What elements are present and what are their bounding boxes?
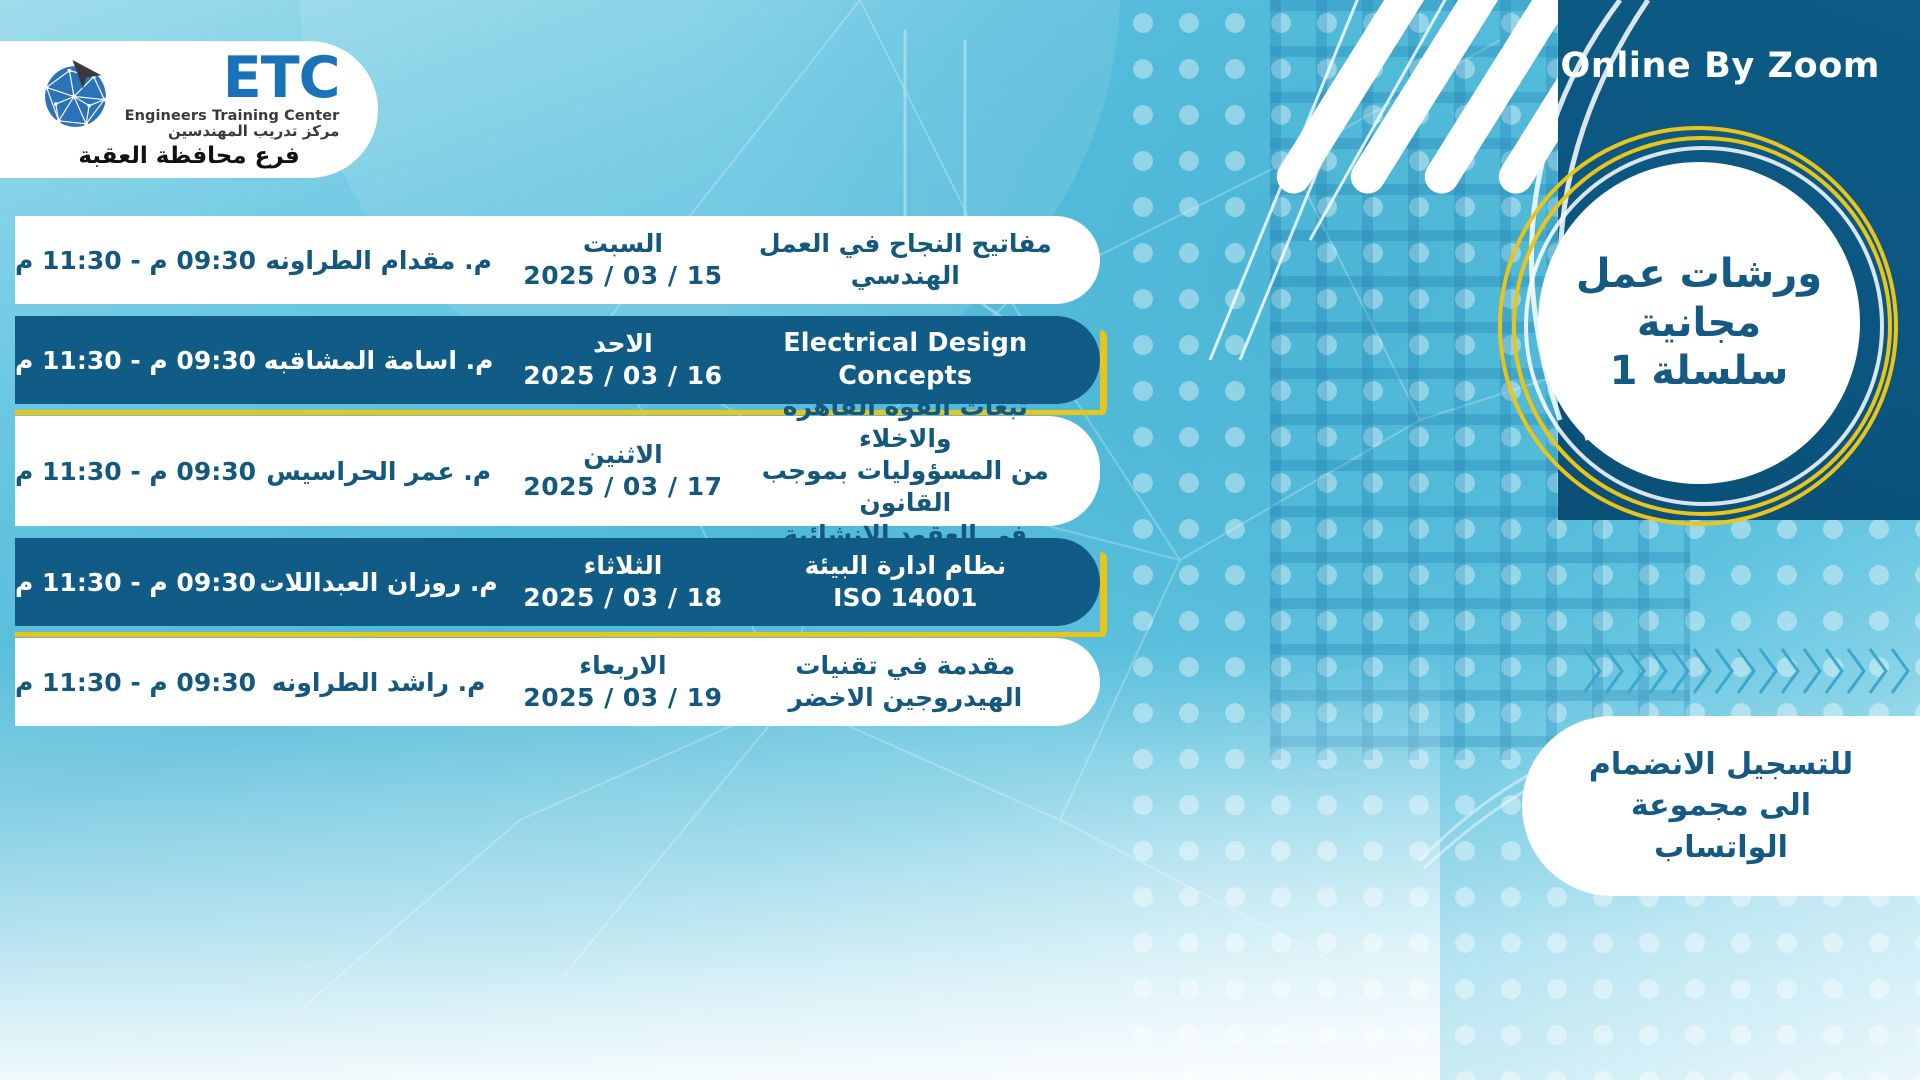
workshop-date-cell: الاربعاء 2025 / 03 / 19 xyxy=(501,650,744,715)
workshop-time-cell: 09:30 م - 11:30 م xyxy=(15,346,256,375)
workshop-date: 2025 / 03 / 15 xyxy=(501,260,744,293)
workshop-title-line: Concepts xyxy=(838,361,972,391)
workshop-title-line: نظام ادارة البيئة xyxy=(804,551,1006,580)
workshop-title-line: ISO 14001 xyxy=(833,582,977,614)
logo-subtitle-ar: مركز تدريب المهندسين xyxy=(168,124,339,139)
whatsapp-text: للتسجيل الانضمام الى مجموعة الواتساب xyxy=(1563,744,1879,868)
workshop-title-line: من المسؤوليات بموجب القانون xyxy=(762,456,1049,517)
whatsapp-line-2: الى مجموعة xyxy=(1589,785,1853,826)
table-row[interactable]: مقدمة في تقنيات الهيدروجين الاخضر الاربع… xyxy=(15,638,1100,726)
whatsapp-line-1: للتسجيل الانضمام xyxy=(1589,744,1853,785)
workshop-title-line: Electrical Design xyxy=(783,328,1027,358)
workshop-title-line: مفاتيح النجاح في العمل xyxy=(759,229,1052,258)
workshop-date-cell: الثلاثاء 2025 / 03 / 18 xyxy=(501,550,744,615)
workshop-title-line: الهيدروجين الاخضر xyxy=(788,683,1022,712)
workshop-day: الاثنين xyxy=(583,440,662,469)
workshop-date-cell: السبت 2025 / 03 / 15 xyxy=(501,228,744,293)
badge-text: ورشات عمل مجانية سلسلة 1 xyxy=(1558,250,1840,396)
workshop-instructor-cell: م. عمر الحراسيس xyxy=(256,457,501,486)
logo-acronym: ETC xyxy=(223,50,340,107)
badge-line-2: مجانية xyxy=(1576,299,1822,348)
workshop-date-cell: الاحد 2025 / 03 / 16 xyxy=(501,328,744,393)
workshop-date: 2025 / 03 / 19 xyxy=(501,682,744,715)
schedule-list: مفاتيح النجاح في العمل الهندسي السبت 202… xyxy=(0,216,1100,738)
workshop-day: الاربعاء xyxy=(579,651,666,680)
workshop-day: السبت xyxy=(583,229,663,258)
workshop-instructor-cell: م. مقدام الطراونه xyxy=(256,246,501,275)
workshop-time-cell: 09:30 م - 11:30 م xyxy=(15,568,256,597)
badge-line-3: سلسلة 1 xyxy=(1576,347,1822,396)
workshop-time-cell: 09:30 م - 11:30 م xyxy=(15,246,256,275)
logo-branch-label: فرع محافظة العقبة xyxy=(78,143,299,169)
workshop-instructor-cell: م. راشد الطراونه xyxy=(256,668,501,697)
workshop-time-cell: 09:30 م - 11:30 م xyxy=(15,668,256,697)
workshop-title-cell: نظام ادارة البيئة ISO 14001 xyxy=(745,550,1066,614)
workshop-badge: ورشات عمل مجانية سلسلة 1 xyxy=(1498,126,1898,526)
workshop-date: 2025 / 03 / 16 xyxy=(501,360,744,393)
workshop-instructor-cell: م. روزان العبداللات xyxy=(256,568,501,597)
table-row[interactable]: تبعات القوة القاهرة والاخلاء من المسؤولي… xyxy=(15,416,1100,526)
workshop-date: 2025 / 03 / 17 xyxy=(501,471,744,504)
logo-subtitle-en: Engineers Training Center xyxy=(125,109,340,124)
workshop-instructor-cell: م. اسامة المشاقبه xyxy=(256,346,501,375)
table-row[interactable]: مفاتيح النجاح في العمل الهندسي السبت 202… xyxy=(15,216,1100,304)
badge-line-1: ورشات عمل xyxy=(1576,250,1822,299)
whatsapp-line-3: الواتساب xyxy=(1589,827,1853,868)
workshop-title-line: تبعات القوة القاهرة والاخلاء xyxy=(783,392,1028,453)
workshop-day: الثلاثاء xyxy=(584,551,663,580)
whatsapp-registration-card[interactable]: للتسجيل الانضمام الى مجموعة الواتساب xyxy=(1522,716,1920,896)
workshop-title-cell: تبعات القوة القاهرة والاخلاء من المسؤولي… xyxy=(745,391,1066,551)
workshop-date-cell: الاثنين 2025 / 03 / 17 xyxy=(501,439,744,504)
logo-container: ETC Engineers Training Center مركز تدريب… xyxy=(0,41,378,178)
workshop-title-line: الهندسي xyxy=(851,261,960,290)
online-by-zoom-label: Online By Zoom xyxy=(1560,46,1880,86)
workshop-day: الاحد xyxy=(593,329,653,358)
table-row[interactable]: نظام ادارة البيئة ISO 14001 الثلاثاء 202… xyxy=(15,538,1100,626)
poster-canvas: Online By Zoom ETC Engineers Training Ce… xyxy=(0,0,1920,1080)
workshop-title-cell: Electrical Design Concepts xyxy=(745,327,1066,392)
workshop-date: 2025 / 03 / 18 xyxy=(501,582,744,615)
workshop-title-cell: مفاتيح النجاح في العمل الهندسي xyxy=(745,228,1066,292)
workshop-title-cell: مقدمة في تقنيات الهيدروجين الاخضر xyxy=(745,650,1066,714)
workshop-time-cell: 09:30 م - 11:30 م xyxy=(15,457,256,486)
globe-network-icon xyxy=(39,57,115,133)
badge-circle: ورشات عمل مجانية سلسلة 1 xyxy=(1538,162,1860,484)
workshop-title-line: مقدمة في تقنيات xyxy=(795,651,1015,680)
